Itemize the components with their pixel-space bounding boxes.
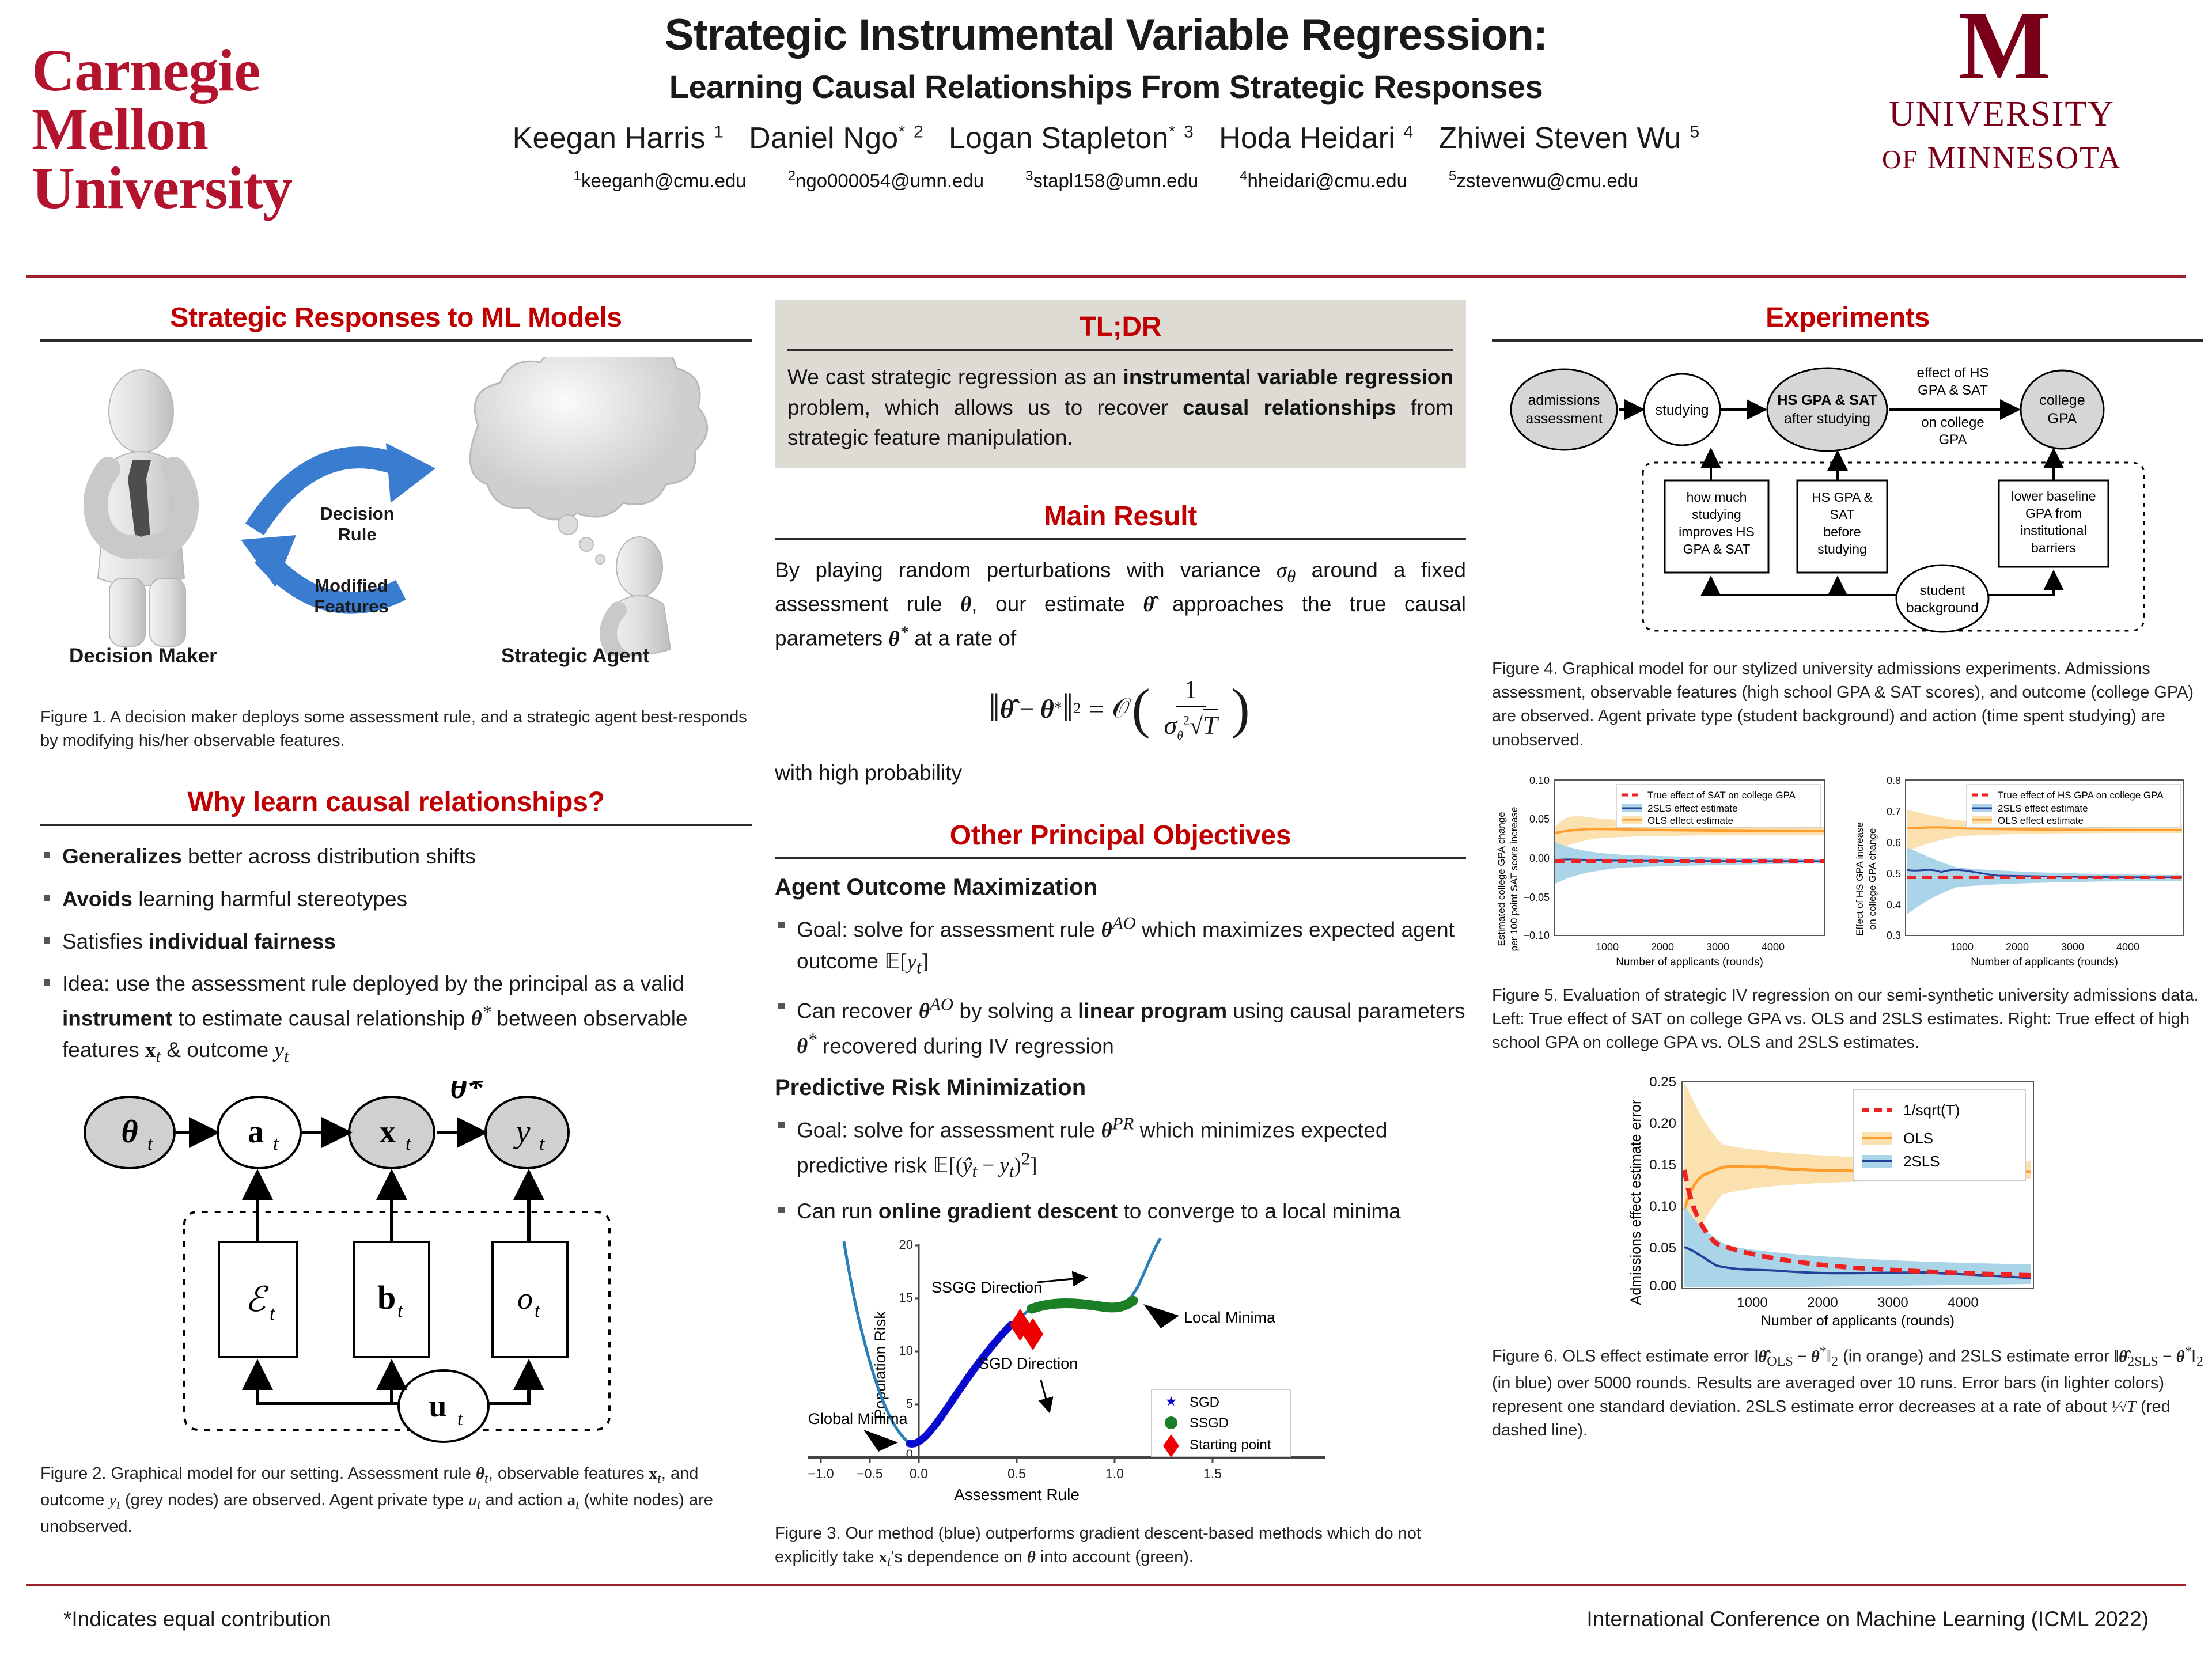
svg-text:effect of HS: effect of HS <box>1917 365 1989 381</box>
annotation-local-minima: Local Minima <box>1184 1309 1276 1326</box>
umn-logo: M UNIVERSITY OF MINNESOTA <box>1803 6 2200 259</box>
section-title-why-causal: Why learn causal relationships? <box>40 784 752 824</box>
node-college-gpa <box>2021 370 2104 449</box>
section-title-strategic-responses: Strategic Responses to ML Models <box>40 300 752 339</box>
svg-text:t: t <box>406 1133 412 1154</box>
predictive-risk-bullet-list: Goal: solve for assessment rule θPR whic… <box>775 1111 1466 1227</box>
author-name: Keegan Harris 1 <box>513 122 724 155</box>
annotation-ssgg-direction: SSGG Direction <box>931 1279 1042 1296</box>
svg-text:institutional: institutional <box>2020 523 2086 538</box>
svg-text:after studying: after studying <box>1784 411 1870 427</box>
fig5r-legend: True effect of HS GPA on college GPA 2SL… <box>1967 785 2181 827</box>
svg-text:t: t <box>539 1133 546 1154</box>
svg-text:OLS effect estimate: OLS effect estimate <box>1998 815 2084 826</box>
svg-text:4000: 4000 <box>1762 941 1785 953</box>
svg-text:barriers: barriers <box>2031 540 2076 555</box>
svg-text:0.5: 0.5 <box>1887 868 1901 880</box>
figure-5-left-svg: Estimated college GPA change per 100 poi… <box>1492 770 1838 971</box>
list-item: Can recover θAO by solving a linear prog… <box>775 992 1466 1062</box>
cmu-logo-line-3: University <box>32 159 389 218</box>
figure-6-chart: Admissions effect estimate error 0.250.2… <box>1492 1070 2203 1329</box>
decision-maker-figure <box>96 370 187 646</box>
svg-text:0.8: 0.8 <box>1887 775 1901 786</box>
svg-text:0.10: 0.10 <box>1649 1199 1676 1214</box>
figure-5-right-svg: Effect of HS GPA increase on college GPA… <box>1850 770 2196 971</box>
cmu-logo-line-1: Carnegie <box>32 41 389 100</box>
section-divider-2 <box>40 824 752 826</box>
figure-1-illustration: Decision Rule Modified Features Decision… <box>40 357 752 679</box>
subheading-agent-outcome-max: Agent Outcome Maximization <box>775 874 1466 900</box>
column-left: Strategic Responses to ML Models <box>40 300 752 1539</box>
fig6-legend-2sls: 2SLS <box>1903 1153 1940 1170</box>
arrow-label-modified-features: Modified Features <box>282 575 421 617</box>
svg-text:1.5: 1.5 <box>1203 1466 1222 1481</box>
decision-rule-line-1: Decision <box>288 503 426 524</box>
annotation-global-minima: Global Minima <box>808 1410 908 1427</box>
fig5r-xlabel: Number of applicants (rounds) <box>1971 956 2118 968</box>
svg-text:5: 5 <box>906 1396 913 1411</box>
legend-starting-point: Starting point <box>1190 1437 1271 1453</box>
svg-text:lower baseline: lower baseline <box>2011 488 2096 503</box>
author-email[interactable]: 3stapl158@umn.edu <box>1025 170 1198 191</box>
svg-text:studying: studying <box>1692 507 1741 522</box>
legend-sgd: SGD <box>1190 1395 1219 1410</box>
umn-logo-line-2: OF MINNESOTA <box>1882 139 2122 176</box>
svg-text:1000: 1000 <box>1950 941 1974 953</box>
fig5r-ylabel-line1: Effect of HS GPA increase <box>1854 822 1865 936</box>
svg-text:0.25: 0.25 <box>1649 1074 1676 1090</box>
svg-text:0.7: 0.7 <box>1887 806 1901 817</box>
list-item: Goal: solve for assessment rule θAO whic… <box>775 911 1466 980</box>
arrow-label-decision-rule: Decision Rule <box>288 503 426 545</box>
ssgd-trajectory <box>1032 1301 1133 1309</box>
figure-2-graphical-model: θ t a t x t y t θ* ℰ t <box>40 1081 752 1449</box>
svg-text:2000: 2000 <box>1651 941 1674 953</box>
svg-text:0.5: 0.5 <box>1007 1466 1026 1481</box>
svg-text:1.0: 1.0 <box>1105 1466 1124 1481</box>
umn-logo-minnesota: MINNESOTA <box>1927 140 2122 175</box>
svg-text:★: ★ <box>1165 1393 1177 1408</box>
section-title-tldr: TL;DR <box>787 309 1453 349</box>
legend-ssgd: SSGD <box>1190 1415 1229 1431</box>
label-decision-maker: Decision Maker <box>69 645 217 668</box>
figure-3-xlabel: Assessment Rule <box>954 1486 1080 1503</box>
svg-text:0.20: 0.20 <box>1649 1116 1676 1131</box>
author-name: Daniel Ngo* 2 <box>749 122 923 155</box>
figure-6-svg: Admissions effect estimate error 0.250.2… <box>1492 1070 2203 1329</box>
fig6-legend-sqrt: 1/sqrt(T) <box>1903 1101 1960 1119</box>
list-item: Satisfies individual fairness <box>40 926 752 957</box>
svg-text:3000: 3000 <box>2061 941 2084 953</box>
modified-features-line-1: Modified <box>282 575 421 596</box>
with-high-probability-text: with high probability <box>775 758 1466 789</box>
svg-text:0.15: 0.15 <box>1649 1157 1676 1173</box>
svg-text:0: 0 <box>906 1447 913 1461</box>
svg-text:on college: on college <box>1921 415 1984 430</box>
page-title: Strategic Instrumental Variable Regressi… <box>392 10 1820 59</box>
tldr-divider <box>787 349 1453 351</box>
main-result-divider <box>775 538 1466 540</box>
fig5r-ylabel-line2: on college GPA change <box>1867 828 1878 929</box>
author-email[interactable]: 4hheidari@cmu.edu <box>1240 170 1407 191</box>
fig5l-ylabel-line2: per 100 point SAT score increase <box>1509 806 1520 951</box>
svg-text:2SLS effect estimate: 2SLS effect estimate <box>1647 803 1738 814</box>
svg-text:0.00: 0.00 <box>1529 853 1550 864</box>
author-email[interactable]: 1keeganh@cmu.edu <box>574 170 747 191</box>
svg-text:college: college <box>2039 392 2085 408</box>
title-block: Strategic Instrumental Variable Regressi… <box>392 10 1820 192</box>
figure-4-svg: admissions assessment studying HS GPA & … <box>1492 357 2203 645</box>
section-title-experiments: Experiments <box>1492 300 2203 339</box>
author-list: Keegan Harris 1Daniel Ngo* 2Logan Staple… <box>392 121 1820 156</box>
svg-text:−0.10: −0.10 <box>1523 930 1550 941</box>
svg-text:t: t <box>397 1300 404 1321</box>
svg-text:t: t <box>535 1300 541 1321</box>
figure-4-graphical-model: admissions assessment studying HS GPA & … <box>1492 357 2203 645</box>
svg-text:improves HS: improves HS <box>1679 524 1755 539</box>
svg-text:0.6: 0.6 <box>1887 837 1901 849</box>
svg-text:GPA: GPA <box>1939 432 1967 448</box>
svg-text:θ: θ <box>121 1114 138 1150</box>
svg-text:GPA & SAT: GPA & SAT <box>1918 382 1988 398</box>
svg-text:3000: 3000 <box>1706 941 1729 953</box>
figure-3-svg: 20 15 10 5 0 Population Risk −1.0 −0.5 0… <box>775 1238 1466 1509</box>
svg-text:2000: 2000 <box>1807 1295 1838 1310</box>
subheading-predictive-risk-min: Predictive Risk Minimization <box>775 1075 1466 1101</box>
figure-3-ylabel: Population Risk <box>872 1311 889 1419</box>
svg-text:3000: 3000 <box>1877 1295 1908 1310</box>
email-list: 1keeganh@cmu.edu2ngo000054@umn.edu3stapl… <box>392 168 1820 192</box>
modified-features-line-2: Features <box>282 596 421 617</box>
label-strategic-agent: Strategic Agent <box>501 645 649 668</box>
svg-text:t: t <box>147 1133 154 1154</box>
svg-text:1000: 1000 <box>1596 941 1619 953</box>
svg-text:0.0: 0.0 <box>910 1466 928 1481</box>
fig6-legend-ols: OLS <box>1903 1130 1933 1147</box>
footnote-equal-contribution: *Indicates equal contribution <box>63 1607 331 1631</box>
svg-text:student: student <box>1920 583 1965 599</box>
figure-3-chart: 20 15 10 5 0 Population Risk −1.0 −0.5 0… <box>775 1238 1466 1509</box>
svg-text:4000: 4000 <box>1948 1295 1978 1310</box>
svg-text:HS GPA &: HS GPA & <box>1812 490 1873 505</box>
figure-5-caption: Figure 5. Evaluation of strategic IV reg… <box>1492 984 2203 1055</box>
column-right: Experiments admissions assessment studyi… <box>1492 300 2203 1442</box>
svg-text:2000: 2000 <box>2006 941 2029 953</box>
figure-1-caption: Figure 1. A decision maker deploys some … <box>40 706 752 753</box>
poster-root: Carnegie Mellon University Strategic Ins… <box>0 0 2212 1659</box>
annotation-sgd-direction: SGD Direction <box>979 1355 1078 1372</box>
figure-3-legend: ★ SGD SSGD Starting point <box>1152 1389 1291 1457</box>
umn-m-mark: M <box>1959 6 2045 86</box>
svg-text:t: t <box>270 1303 276 1324</box>
list-item: Generalizes better across distribution s… <box>40 841 752 872</box>
svg-text:0.05: 0.05 <box>1649 1240 1676 1256</box>
objectives-divider <box>775 857 1466 859</box>
thought-cloud-icon <box>470 357 707 564</box>
svg-text:15: 15 <box>899 1290 913 1305</box>
author-email[interactable]: 5zstevenwu@cmu.edu <box>1449 170 1638 191</box>
starting-point-markers <box>1010 1309 1043 1350</box>
svg-text:studying: studying <box>1817 541 1867 556</box>
fig5l-ylabel-line1: Estimated college GPA change <box>1496 812 1507 946</box>
agent-outcome-bullet-list: Goal: solve for assessment rule θAO whic… <box>775 911 1466 1062</box>
node-student-background <box>1896 565 1988 632</box>
svg-text:−0.05: −0.05 <box>1523 892 1550 903</box>
tldr-text: We cast strategic regression as an instr… <box>787 362 1453 453</box>
svg-text:b: b <box>377 1279 396 1316</box>
svg-text:0.05: 0.05 <box>1529 813 1550 825</box>
svg-text:20: 20 <box>899 1238 913 1252</box>
fig6-legend: 1/sqrt(T) OLS 2SLS <box>1854 1089 2025 1180</box>
figure-4-caption: Figure 4. Graphical model for our styliz… <box>1492 657 2203 752</box>
svg-text:admissions: admissions <box>1528 392 1600 408</box>
svg-text:0.00: 0.00 <box>1649 1278 1676 1294</box>
figure-2-caption: Figure 2. Graphical model for our settin… <box>40 1462 752 1539</box>
svg-text:2SLS effect estimate: 2SLS effect estimate <box>1998 803 2088 814</box>
figure-2-svg: θ t a t x t y t θ* ℰ t <box>40 1081 752 1449</box>
svg-text:t: t <box>273 1133 279 1154</box>
svg-text:GPA: GPA <box>2048 411 2077 427</box>
svg-text:x: x <box>380 1114 396 1150</box>
figure-3-caption: Figure 3. Our method (blue) outperforms … <box>775 1522 1466 1572</box>
tldr-panel: TL;DR We cast strategic regression as an… <box>775 300 1466 468</box>
fig6-ylabel: Admissions effect estimate error <box>1628 1100 1644 1305</box>
poster-footer: *Indicates equal contribution Internatio… <box>0 1584 2212 1659</box>
conference-name: International Conference on Machine Lear… <box>1586 1607 2149 1631</box>
svg-text:y: y <box>513 1114 531 1150</box>
node-admissions-assessment <box>1511 369 1617 450</box>
svg-text:True effect of HS GPA on colle: True effect of HS GPA on college GPA <box>1998 790 2164 801</box>
section-title-objectives: Other Principal Objectives <box>775 817 1466 857</box>
svg-text:before: before <box>1823 524 1861 539</box>
svg-text:HS GPA & SAT: HS GPA & SAT <box>1777 392 1877 408</box>
figure-4-edge-label: effect of HS GPA & SAT on college GPA <box>1917 365 1989 448</box>
decision-rule-line-2: Rule <box>288 524 426 545</box>
figure-5-charts: Estimated college GPA change per 100 poi… <box>1492 770 2203 971</box>
main-result-formula: ‖θ̂ − θ*‖2 = 𝒪 ( 1 σθ2√T ) <box>775 674 1466 743</box>
experiments-divider <box>1492 339 2203 342</box>
svg-text:a: a <box>248 1114 264 1150</box>
page-subtitle: Learning Causal Relationships From Strat… <box>392 67 1820 106</box>
list-item: Idea: use the assessment rule deployed b… <box>40 968 752 1069</box>
edge-label-theta-star: θ* <box>450 1081 483 1105</box>
svg-text:studying: studying <box>1655 402 1709 418</box>
svg-text:SAT: SAT <box>1830 507 1854 522</box>
svg-text:1000: 1000 <box>1737 1295 1767 1310</box>
svg-text:OLS effect estimate: OLS effect estimate <box>1647 815 1733 826</box>
svg-text:−0.5: −0.5 <box>857 1466 882 1481</box>
svg-text:10: 10 <box>899 1343 913 1358</box>
list-item: Can run online gradient descent to conve… <box>775 1196 1466 1227</box>
node-hs-gpa-sat-after <box>1767 368 1887 451</box>
figure-6-caption: Figure 6. OLS effect estimate error ‖θ̂O… <box>1492 1342 2203 1442</box>
fig6-xlabel: Number of applicants (rounds) <box>1761 1313 1955 1329</box>
poster-header: Carnegie Mellon University Strategic Ins… <box>0 0 2212 276</box>
sgd-trajectory <box>910 1325 1011 1444</box>
fig5l-xlabel: Number of applicants (rounds) <box>1616 956 1763 968</box>
footer-divider <box>26 1584 2186 1586</box>
fig5l-legend: True effect of SAT on college GPA 2SLS e… <box>1616 785 1820 827</box>
umn-logo-of: OF <box>1882 145 1918 174</box>
cmu-logo-line-2: Mellon <box>32 100 389 159</box>
author-name: Logan Stapleton* 3 <box>949 122 1194 155</box>
section-divider <box>40 339 752 342</box>
column-middle: TL;DR We cast strategic regression as an… <box>775 300 1466 1572</box>
strategic-agent-figure <box>608 537 671 656</box>
cmu-logo: Carnegie Mellon University <box>32 6 389 253</box>
svg-text:True effect of SAT on college: True effect of SAT on college GPA <box>1647 790 1796 801</box>
svg-text:assessment: assessment <box>1525 411 1602 427</box>
svg-text:4000: 4000 <box>2116 941 2139 953</box>
main-result-text: By playing random perturbations with var… <box>775 555 1466 655</box>
svg-text:0.4: 0.4 <box>1887 899 1901 911</box>
svg-text:background: background <box>1906 600 1978 616</box>
section-title-main-result: Main Result <box>775 498 1466 538</box>
svg-text:ℰ: ℰ <box>245 1281 269 1319</box>
author-name: Hoda Heidari 4 <box>1219 122 1413 155</box>
header-divider <box>26 275 2186 278</box>
svg-text:o: o <box>517 1281 533 1316</box>
svg-text:how much: how much <box>1687 490 1747 505</box>
umn-logo-line-1: UNIVERSITY <box>1889 94 2115 135</box>
svg-text:−1.0: −1.0 <box>808 1466 834 1481</box>
svg-text:0.10: 0.10 <box>1529 775 1550 786</box>
list-item: Avoids learning harmful stereotypes <box>40 884 752 915</box>
why-causal-bullet-list: Generalizes better across distribution s… <box>40 841 752 1069</box>
author-name: Zhiwei Steven Wu 5 <box>1439 122 1700 155</box>
svg-text:GPA from: GPA from <box>2025 506 2082 521</box>
svg-text:GPA & SAT: GPA & SAT <box>1683 541 1751 556</box>
list-item: Goal: solve for assessment rule θPR whic… <box>775 1111 1466 1184</box>
svg-text:t: t <box>457 1408 464 1430</box>
svg-text:0.3: 0.3 <box>1887 930 1901 941</box>
svg-text:u: u <box>429 1388 446 1424</box>
author-email[interactable]: 2ngo000054@umn.edu <box>788 170 984 191</box>
